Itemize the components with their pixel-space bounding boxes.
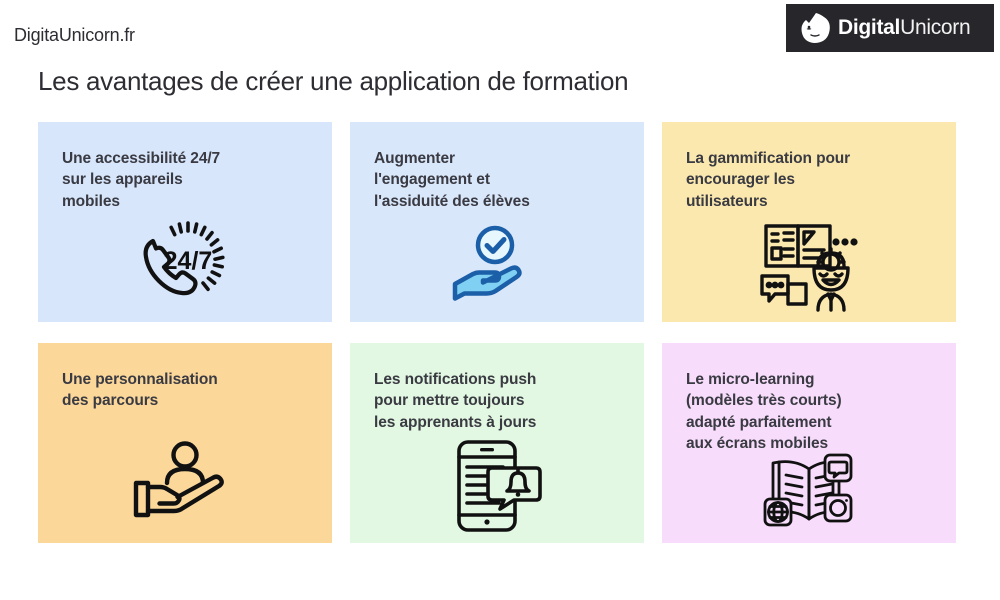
card-title: Les notifications push pour mettre toujo… xyxy=(374,369,630,433)
page-title: Les avantages de créer une application d… xyxy=(38,66,628,97)
phone-24-7-icon: 24/7 xyxy=(131,214,239,314)
benefit-card-accessibility: Une accessibilité 24/7 sur les appareils… xyxy=(38,122,332,322)
benefit-card-engagement: Augmenter l'engagement et l'assiduité de… xyxy=(350,122,644,322)
card-icon-wrap xyxy=(350,222,644,314)
card-title: Le micro-learning (modèles très courts) … xyxy=(686,369,942,455)
benefit-card-microlearning: Le micro-learning (modèles très courts) … xyxy=(662,343,956,543)
card-title: Une personnalisation des parcours xyxy=(62,369,318,412)
card-title: Une accessibilité 24/7 sur les appareils… xyxy=(62,148,318,212)
benefits-grid: Une accessibilité 24/7 sur les appareils… xyxy=(38,122,962,543)
book-person-gear-icon xyxy=(756,218,862,314)
brand-logo: DigitalUnicorn xyxy=(786,4,994,52)
brand-logo-text: DigitalUnicorn xyxy=(838,16,970,40)
card-icon-wrap xyxy=(38,439,332,535)
book-apps-icon xyxy=(757,451,861,535)
card-icon-wrap: 24/7 xyxy=(38,214,332,314)
card-icon-wrap xyxy=(350,437,644,535)
card-title: La gammification pour encourager les uti… xyxy=(686,148,942,212)
benefit-card-gamification: La gammification pour encourager les uti… xyxy=(662,122,956,322)
benefit-card-notifications: Les notifications push pour mettre toujo… xyxy=(350,343,644,543)
phone-24-7-label: 24/7 xyxy=(164,247,213,275)
benefit-card-personalisation: Une personnalisation des parcours xyxy=(38,343,332,543)
brand-bold: Digital xyxy=(838,16,900,39)
brand-light: Unicorn xyxy=(900,16,970,39)
hand-person-icon xyxy=(130,439,240,535)
unicorn-head-icon xyxy=(796,10,836,46)
phone-bell-notification-icon xyxy=(447,437,547,535)
card-icon-wrap xyxy=(662,218,956,314)
card-icon-wrap xyxy=(662,451,956,535)
hand-check-icon xyxy=(447,222,547,314)
card-title: Augmenter l'engagement et l'assiduité de… xyxy=(374,148,630,212)
site-name: DigitaUnicorn.fr xyxy=(14,25,135,46)
